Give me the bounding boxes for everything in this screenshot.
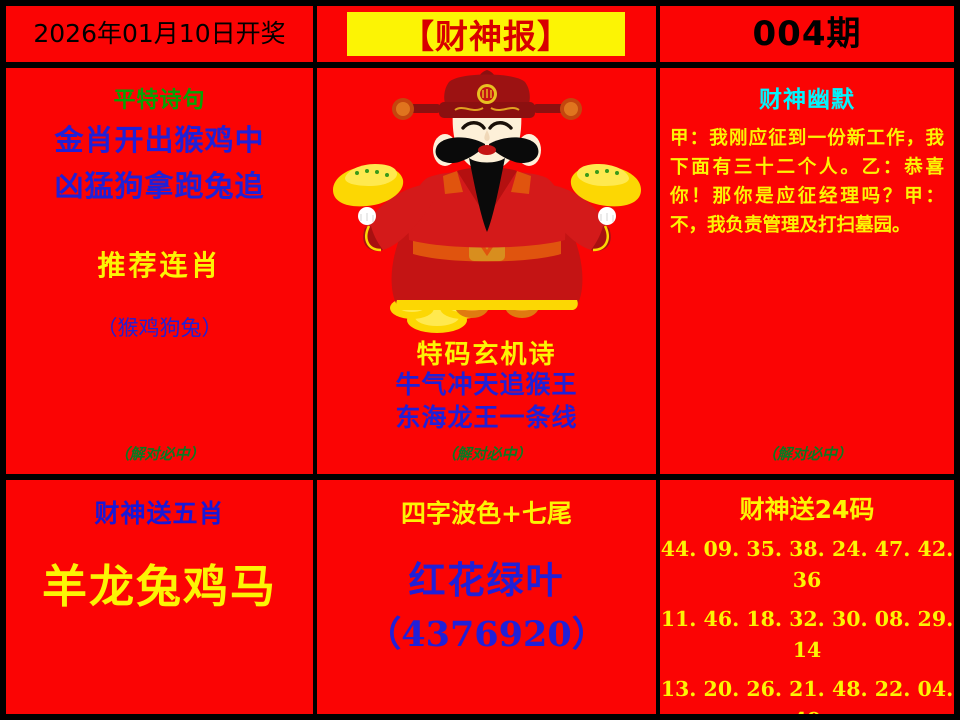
five-zodiac-heading: 财神送五肖: [6, 494, 313, 530]
temacode-poem-line-1: 牛气冲天追猴王: [317, 368, 656, 401]
title-cell: 【财神报】: [317, 6, 656, 62]
temacode-poem: 牛气冲天追猴王 东海龙王一条线: [317, 368, 656, 434]
humor-heading: 财神幽默: [660, 80, 954, 114]
robe-hem: [396, 300, 578, 310]
lottery-poster: 2026年01月10日开奖 【财神报】 004期 平特诗句 金肖开出猴鸡中 凶猛…: [0, 0, 960, 720]
pingte-note: （解对必中）: [6, 443, 313, 464]
draw-date-label: 2026年01月10日开奖: [6, 6, 313, 62]
twentyfour-codes-row-3: 13. 20. 26. 21. 48. 22. 04. 49: [660, 674, 954, 714]
date-cell: 2026年01月10日开奖: [6, 6, 313, 62]
wave-color-panel: 四字波色+七尾 红花绿叶 （4376920）: [317, 480, 656, 714]
temacode-note: （解对必中）: [317, 443, 656, 464]
recommend-zodiac-heading: 推荐连肖: [6, 244, 313, 284]
mouth: [478, 145, 496, 155]
god-of-wealth-illustration: [317, 68, 656, 336]
pingte-poem-line-1: 金肖开出猴鸡中: [6, 120, 313, 160]
humor-joke-text: 甲：我刚应征到一份新工作，我下面有三十二个人。乙：恭喜你！那你是应征经理吗？甲：…: [670, 124, 944, 240]
humor-note: （解对必中）: [660, 443, 954, 464]
twentyfour-codes-panel: 财神送24码 44. 09. 35. 38. 24. 47. 42. 36 11…: [660, 480, 954, 714]
twentyfour-codes-row-2: 11. 46. 18. 32. 30. 08. 29. 14: [660, 604, 954, 666]
issue-number: 004期: [660, 6, 954, 62]
pingte-poem-panel: 平特诗句 金肖开出猴鸡中 凶猛狗拿跑兔追 推荐连肖 （猴鸡狗兔） （解对必中）: [6, 68, 313, 474]
wave-color-phrase: 红花绿叶: [317, 550, 656, 604]
issue-cell: 004期: [660, 6, 954, 62]
five-zodiac-value: 羊龙兔鸡马: [6, 550, 313, 615]
temacode-poem-line-2: 东海龙王一条线: [317, 401, 656, 434]
poster-title: 【财神报】: [401, 10, 571, 58]
wave-color-heading: 四字波色+七尾: [317, 494, 656, 530]
title-banner: 【财神报】: [347, 12, 625, 56]
twentyfour-codes-heading: 财神送24码: [660, 490, 954, 526]
recommend-zodiac-value: （猴鸡狗兔）: [6, 312, 313, 342]
temacode-heading: 特码玄机诗: [317, 334, 656, 371]
twentyfour-codes-row-1: 44. 09. 35. 38. 24. 47. 42. 36: [660, 534, 954, 596]
pingte-heading: 平特诗句: [6, 82, 313, 114]
pingte-poem-line-2: 凶猛狗拿跑兔追: [6, 166, 313, 206]
five-zodiac-panel: 财神送五肖 羊龙兔鸡马: [6, 480, 313, 714]
wave-color-digits: （4376920）: [317, 606, 656, 657]
humor-panel: 财神幽默 甲：我刚应征到一份新工作，我下面有三十二个人。乙：恭喜你！那你是应征经…: [660, 68, 954, 474]
center-panel: 特码玄机诗 牛气冲天追猴王 东海龙王一条线 （解对必中）: [317, 68, 656, 474]
